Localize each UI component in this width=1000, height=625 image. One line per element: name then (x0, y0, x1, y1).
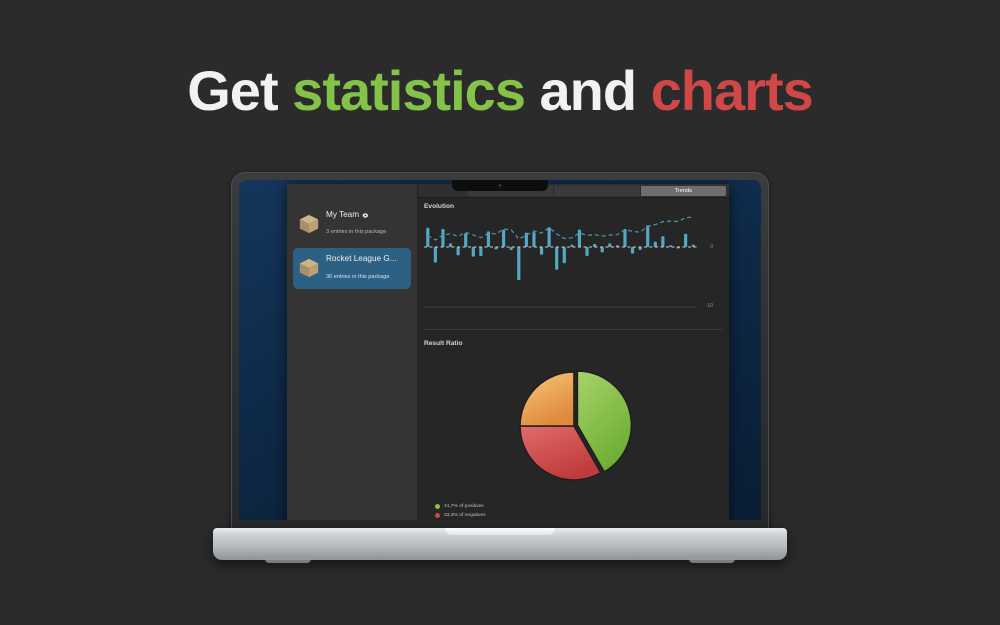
evolution-bar (585, 247, 588, 256)
evolution-bar (555, 247, 558, 270)
pie-legend: 41,7% of positives 33,3% of negatives 25… (435, 504, 486, 520)
cumulative-trend-line (428, 217, 693, 240)
pie-svg (512, 364, 636, 488)
sidebar-item-rocket-league[interactable]: Rocket League G... 36 entries in this pa… (293, 248, 411, 288)
evolution-bar (684, 234, 687, 247)
sidebar-item-title-row: My Team (326, 210, 406, 220)
sidebar: My Team 3 entries in this package (287, 184, 418, 520)
evolution-bar (578, 230, 581, 247)
package-box-icon (298, 257, 320, 279)
pie-chart (512, 364, 636, 488)
main-content: Trends Evolution 0-10 Result Ratio (418, 184, 729, 520)
laptop-foot-right (689, 558, 735, 563)
evolution-bar (426, 228, 429, 247)
evolution-bar (631, 247, 634, 254)
headline-part-statistics: statistics (292, 59, 525, 122)
sidebar-item-text: My Team 3 entries in this package (326, 210, 406, 238)
evolution-bar (449, 243, 452, 247)
headline-part-1: Get (187, 59, 292, 122)
evolution-bar (479, 247, 482, 256)
laptop-base (213, 528, 787, 560)
camera-notch (452, 180, 548, 191)
evolution-bar (441, 229, 444, 247)
tab-segment-2[interactable] (554, 186, 640, 196)
evolution-bar (532, 232, 535, 247)
pie-slice (520, 372, 574, 426)
legend-dot-negatives (435, 513, 440, 518)
page-title: Get statistics and charts (0, 58, 1000, 123)
legend-label-negatives: 33,3% of negatives (444, 513, 486, 518)
evolution-bar (654, 242, 657, 247)
laptop-foot-left (265, 558, 311, 563)
evolution-bar (563, 247, 566, 263)
evolution-bar (601, 247, 604, 252)
sidebar-item-label: Rocket League G... (326, 254, 397, 264)
result-ratio-chart: 41,7% of positives 33,3% of negatives 25… (418, 350, 729, 520)
evolution-bar (623, 229, 626, 247)
sidebar-item-text: Rocket League G... 36 entries in this pa… (326, 254, 406, 282)
evolution-section-title: Evolution (418, 198, 729, 213)
headline-part-charts: charts (651, 59, 813, 122)
evolution-svg (424, 213, 723, 325)
package-box-icon (298, 213, 320, 235)
sidebar-item-label: My Team (326, 210, 359, 220)
evolution-bar (661, 236, 664, 247)
camera-icon (499, 184, 502, 187)
evolution-bar (646, 225, 649, 247)
app-window: My Team 3 entries in this package (287, 184, 729, 520)
laptop-bezel: My Team 3 entries in this package (239, 180, 761, 520)
evolution-plot-area: 0-10 (424, 213, 723, 325)
legend-item-positives: 41,7% of positives (435, 504, 486, 509)
evolution-bar (517, 247, 520, 280)
axis-tick-min: -10 (706, 303, 713, 309)
sidebar-item-my-team[interactable]: My Team 3 entries in this package (293, 204, 411, 244)
evolution-bar (464, 233, 467, 247)
ratio-section-title: Result Ratio (418, 335, 729, 350)
headline-part-and: and (525, 59, 651, 122)
sidebar-item-subtitle: 36 entries in this package (326, 274, 389, 280)
evolution-bar (472, 247, 475, 257)
sidebar-item-title-row: Rocket League G... (326, 254, 406, 264)
legend-dot-positives (435, 504, 440, 509)
evolution-chart: 0-10 (418, 213, 729, 325)
gear-icon[interactable] (362, 212, 369, 219)
laptop-lid: My Team 3 entries in this package (231, 172, 769, 530)
laptop-base-notch (445, 528, 555, 535)
sidebar-item-subtitle: 3 entries in this package (326, 229, 386, 235)
section-divider (424, 329, 723, 330)
legend-item-negatives: 33,3% of negatives (435, 513, 486, 518)
laptop-mockup: My Team 3 entries in this package (231, 172, 769, 572)
tab-trends[interactable]: Trends (641, 186, 726, 196)
axis-tick-zero: 0 (710, 244, 713, 250)
evolution-bar (434, 247, 437, 263)
promo-screenshot: Get statistics and charts (0, 0, 1000, 625)
evolution-bar (540, 247, 543, 255)
evolution-bar (457, 247, 460, 255)
evolution-bar (502, 230, 505, 247)
evolution-bar (608, 243, 611, 247)
legend-label-positives: 41,7% of positives (444, 504, 484, 509)
evolution-bar (548, 227, 551, 247)
desktop-wallpaper: My Team 3 entries in this package (239, 180, 761, 520)
